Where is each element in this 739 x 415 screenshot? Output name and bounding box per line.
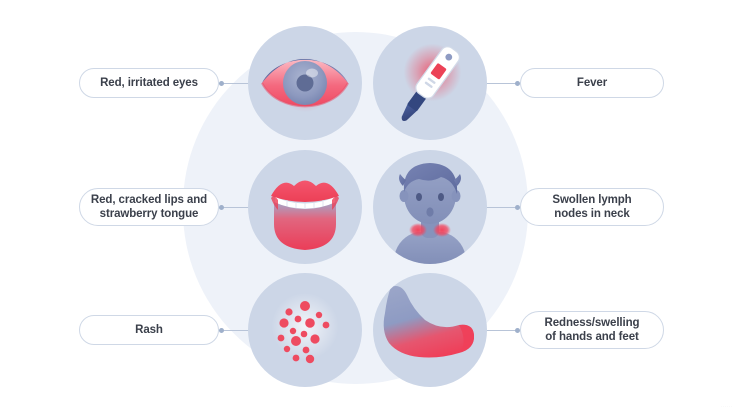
eye-icon [248, 26, 362, 140]
label-redness-swelling-hands-feet[interactable]: Redness/swelling of hands and feet [520, 311, 664, 349]
child-neck-icon [373, 150, 487, 264]
connector-dot-rash [219, 328, 224, 333]
label-rash[interactable]: Rash [79, 315, 219, 345]
label-line: strawberry tongue [100, 207, 199, 221]
label-line: Fever [577, 76, 607, 90]
label-fever[interactable]: Fever [520, 68, 664, 98]
label-red-irritated-eyes[interactable]: Red, irritated eyes [79, 68, 219, 98]
symptom-icon-rash [248, 273, 362, 387]
label-swollen-lymph-nodes-in-neck[interactable]: Swollen lymph nodes in neck [520, 188, 664, 226]
symptom-icon-mouth-tongue [248, 150, 362, 264]
watermark: ······ [721, 404, 733, 410]
label-line: Red, irritated eyes [100, 76, 198, 90]
rash-dots-icon [248, 273, 362, 387]
mouth-tongue-icon [248, 150, 362, 264]
thermometer-icon [373, 26, 487, 140]
symptom-icon-eye [248, 26, 362, 140]
label-line: Red, cracked lips and [91, 193, 207, 207]
connector-dot-lips [219, 205, 224, 210]
label-line: Swollen lymph [552, 193, 631, 207]
infographic-canvas: Red, irritated eyes Fever Red, cracked l… [0, 0, 739, 415]
symptom-icon-child-neck [373, 150, 487, 264]
symptom-icon-thermometer [373, 26, 487, 140]
label-line: nodes in neck [554, 207, 629, 221]
connector-dot-eyes [219, 81, 224, 86]
label-line: Rash [135, 323, 163, 337]
symptom-icon-foot [373, 273, 487, 387]
label-line: Redness/swelling [545, 316, 640, 330]
label-red-cracked-lips-strawberry-tongue[interactable]: Red, cracked lips and strawberry tongue [79, 188, 219, 226]
label-line: of hands and feet [545, 330, 639, 344]
foot-icon [373, 273, 487, 387]
